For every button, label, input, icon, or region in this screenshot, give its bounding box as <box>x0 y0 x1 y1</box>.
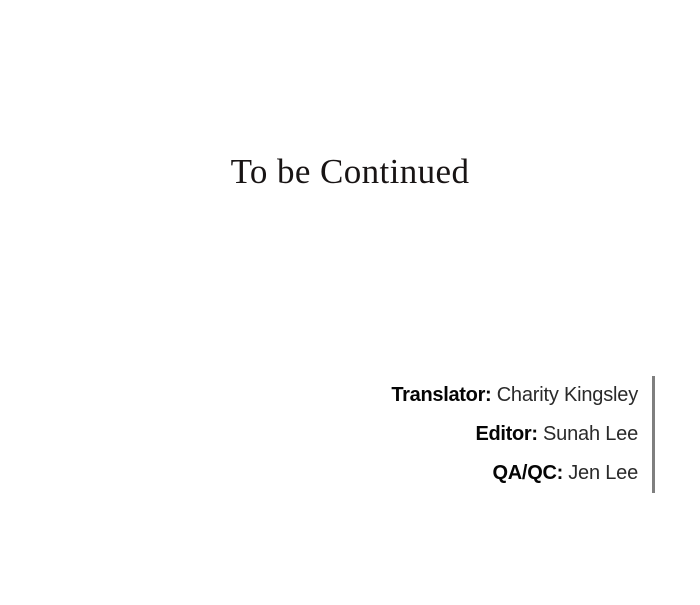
credit-row-qaqc: QA/QC: Jen Lee <box>391 454 638 493</box>
credit-role-label: QA/QC: <box>493 462 569 484</box>
credit-person-name: Sunah Lee <box>543 423 638 445</box>
credit-role-label: Translator: <box>391 384 496 406</box>
credit-person-name: Charity Kingsley <box>497 384 638 406</box>
page-title: To be Continued <box>0 152 700 192</box>
credit-role-label: Editor: <box>475 423 543 445</box>
comic-endcard-page: To be Continued Translator: Charity King… <box>0 0 700 605</box>
credit-row-translator: Translator: Charity Kingsley <box>391 376 638 415</box>
credit-row-editor: Editor: Sunah Lee <box>391 415 638 454</box>
credits-block: Translator: Charity Kingsley Editor: Sun… <box>391 376 655 493</box>
credit-person-name: Jen Lee <box>568 462 638 484</box>
